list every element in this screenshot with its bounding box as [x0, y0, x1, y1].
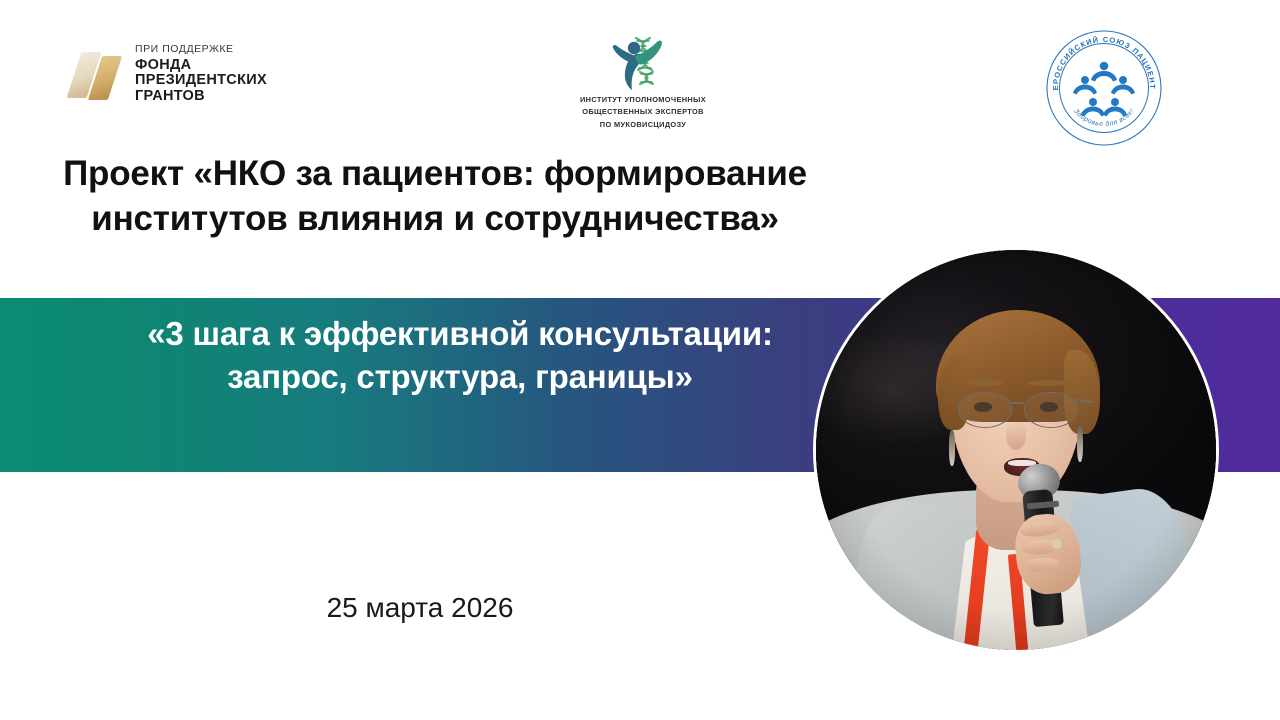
speaker-portrait-photo — [816, 250, 1216, 650]
logo-row: ПРИ ПОДДЕРЖКЕ ФОНДА ПРЕЗИДЕНТСКИХ ГРАНТО… — [0, 0, 1280, 150]
banner-title: «3 шага к эффективной консультации: запр… — [110, 313, 810, 399]
two-slanted-bars-icon — [72, 48, 124, 102]
institute-line-2: ОБЩЕСТВЕННЫХ ЭКСПЕРТОВ — [558, 107, 728, 116]
slide-date: 25 марта 2026 — [20, 592, 820, 624]
circle-of-people-icon: ВСЕРОССИЙСКИЙ СОЮЗ ПАЦИЕНТОВ Здоровье дл… — [1044, 28, 1164, 148]
presidential-grants-fund-text: ПРИ ПОДДЕРЖКЕ ФОНДА ПРЕЗИДЕНТСКИХ ГРАНТО… — [135, 44, 267, 104]
pgf-line-2: ПРЕЗИДЕНТСКИХ — [135, 73, 267, 88]
pgf-line-3: ГРАНТОВ — [135, 89, 267, 104]
institute-logo: ИНСТИТУТ УПОЛНОМОЧЕННЫХ ОБЩЕСТВЕННЫХ ЭКС… — [558, 34, 728, 129]
institute-line-3: ПО МУКОВИСЦИДОЗУ — [558, 120, 728, 129]
person-dna-helix-icon — [558, 34, 728, 92]
pgf-support-label: ПРИ ПОДДЕРЖКЕ — [135, 44, 267, 55]
institute-line-1: ИНСТИТУТ УПОЛНОМОЧЕННЫХ — [558, 95, 728, 104]
presidential-grants-fund-logo: ПРИ ПОДДЕРЖКЕ ФОНДА ПРЕЗИДЕНТСКИХ ГРАНТО… — [72, 44, 267, 104]
pgf-line-1: ФОНДА — [135, 58, 267, 73]
patients-union-logo: ВСЕРОССИЙСКИЙ СОЮЗ ПАЦИЕНТОВ Здоровье дл… — [1044, 28, 1164, 148]
slide-headline: Проект «НКО за пациентов: формирование и… — [20, 152, 850, 242]
presentation-slide: ПРИ ПОДДЕРЖКЕ ФОНДА ПРЕЗИДЕНТСКИХ ГРАНТО… — [0, 0, 1280, 720]
